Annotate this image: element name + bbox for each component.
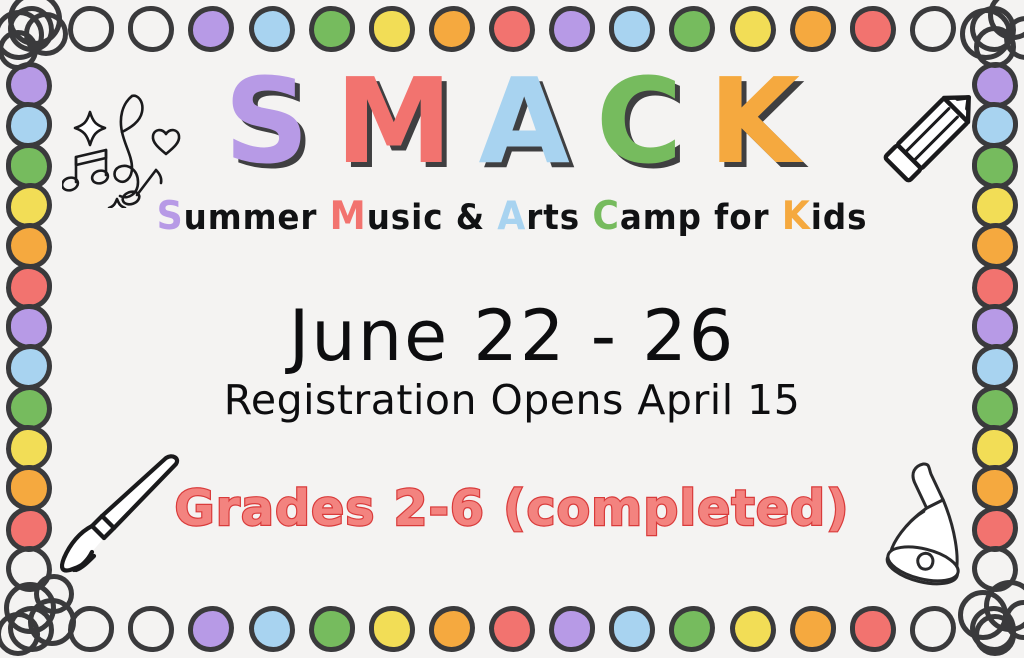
border-dot-left-1 [6, 102, 52, 148]
border-dot-left-8 [6, 385, 52, 431]
border-dot-bottom-10 [609, 606, 655, 652]
border-dot-top-3 [188, 6, 234, 52]
camp-subtitle: Summer Music & Arts Camp for Kids [94, 194, 931, 239]
corner-ring-1 [988, 0, 1024, 40]
acronym-letter-s: S [224, 62, 335, 180]
border-dot-left-4 [6, 223, 52, 269]
border-dot-left-5 [6, 264, 52, 310]
border-dot-left-3 [6, 183, 52, 229]
subtitle-part-8: amp for [620, 198, 782, 238]
corner-ring-2 [974, 614, 1016, 656]
flyer-content: SMACK Summer Music & Arts Camp for Kids … [62, 56, 962, 602]
border-dot-left-11 [6, 506, 52, 552]
corner-ring-3 [0, 30, 38, 70]
border-dot-top-5 [309, 6, 355, 52]
border-dot-top-14 [850, 6, 896, 52]
subtitle-part-7: C [592, 194, 620, 239]
border-dot-left-9 [6, 425, 52, 471]
border-dot-top-15 [910, 6, 956, 52]
subtitle-part-4: & [456, 198, 498, 238]
grades-line: Grades 2-6 (completed) [62, 480, 962, 537]
border-dot-left-6 [6, 304, 52, 350]
corner-ring-2 [974, 26, 1016, 68]
border-dot-bottom-1 [68, 606, 114, 652]
border-dot-right-5 [972, 264, 1018, 310]
border-dot-top-6 [369, 6, 415, 52]
border-dot-top-12 [730, 6, 776, 52]
border-dot-top-10 [609, 6, 655, 52]
subtitle-part-0: S [157, 194, 184, 239]
border-dot-bottom-6 [369, 606, 415, 652]
camp-dates: June 22 - 26 [62, 301, 962, 372]
border-dot-left-10 [6, 465, 52, 511]
acronym-letter-c: C [596, 62, 709, 180]
subtitle-part-6: rts [526, 198, 592, 238]
border-dot-bottom-8 [489, 606, 535, 652]
border-dot-bottom-11 [669, 606, 715, 652]
border-dot-bottom-9 [549, 606, 595, 652]
camp-acronym-title: SMACK [62, 62, 962, 180]
acronym-letter-m: M [335, 62, 478, 180]
subtitle-part-5: A [497, 194, 526, 239]
border-dot-left-0 [6, 62, 52, 108]
border-dot-bottom-12 [730, 606, 776, 652]
border-dot-bottom-13 [790, 606, 836, 652]
border-dot-top-7 [429, 6, 475, 52]
subtitle-part-9: K [782, 194, 811, 239]
corner-ring-3 [1004, 16, 1024, 60]
border-dot-top-4 [249, 6, 295, 52]
acronym-letter-a: A [479, 62, 596, 180]
border-dot-right-8 [972, 385, 1018, 431]
border-dot-bottom-2 [128, 606, 174, 652]
corner-ring-1 [8, 0, 62, 46]
border-dot-bottom-16 [970, 606, 1016, 652]
border-dot-top-0 [8, 6, 54, 52]
border-dot-bottom-3 [188, 606, 234, 652]
border-dot-left-12 [6, 546, 52, 592]
camp-flyer: SMACK Summer Music & Arts Camp for Kids … [0, 0, 1024, 658]
corner-ring-3 [1004, 600, 1024, 640]
subtitle-part-1: ummer [184, 198, 330, 238]
corner-ring-0 [960, 8, 1012, 60]
border-dot-left-7 [6, 344, 52, 390]
subtitle-part-10: ids [811, 198, 868, 238]
border-dot-top-2 [128, 6, 174, 52]
subtitle-part-2: M [330, 194, 367, 239]
border-dot-top-13 [790, 6, 836, 52]
border-dot-bottom-5 [309, 606, 355, 652]
border-dot-right-6 [972, 304, 1018, 350]
subtitle-part-3: usic [367, 198, 456, 238]
border-dot-left-2 [6, 143, 52, 189]
border-dot-right-4 [972, 223, 1018, 269]
border-dot-bottom-4 [249, 606, 295, 652]
acronym-letter-k: K [708, 62, 825, 180]
corner-ring-2 [24, 12, 68, 56]
border-dot-bottom-7 [429, 606, 475, 652]
border-corner-cluster-top-right [952, 0, 1024, 82]
corner-ring-0 [0, 10, 44, 60]
border-dot-top-16 [970, 6, 1016, 52]
border-dot-bottom-0 [8, 606, 54, 652]
registration-line: Registration Opens April 15 [62, 376, 962, 424]
border-dot-top-8 [489, 6, 535, 52]
border-dot-top-9 [549, 6, 595, 52]
border-dot-top-1 [68, 6, 114, 52]
border-dot-bottom-15 [910, 606, 956, 652]
corner-ring-2 [0, 612, 40, 656]
border-dot-top-11 [669, 6, 715, 52]
border-dot-right-7 [972, 344, 1018, 390]
corner-ring-1 [28, 598, 76, 646]
border-dot-bottom-14 [850, 606, 896, 652]
